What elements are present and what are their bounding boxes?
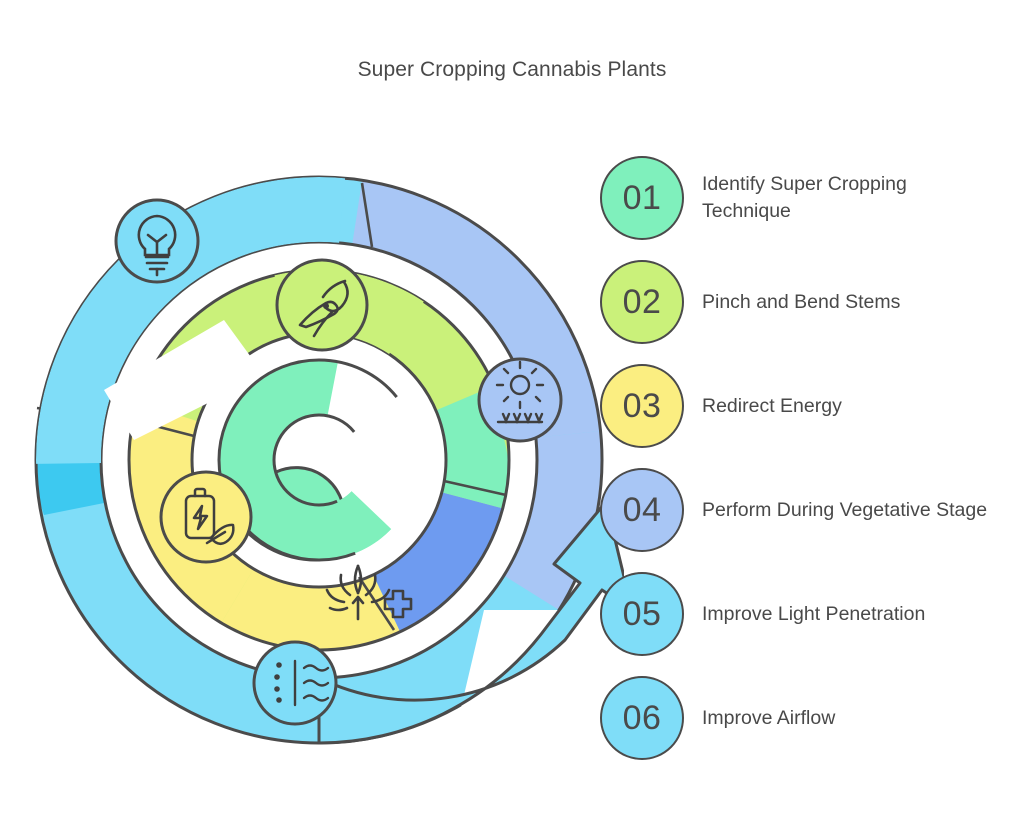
page-title: Super Cropping Cannabis Plants bbox=[0, 58, 1024, 82]
node-lightbulb bbox=[116, 200, 198, 282]
legend-number-02: 02 bbox=[623, 285, 662, 319]
legend-label-05: Improve Light Penetration bbox=[702, 601, 925, 628]
legend-item-04[interactable]: 04 Perform During Vegetative Stage bbox=[600, 458, 1010, 562]
legend-number-01: 01 bbox=[623, 181, 662, 215]
legend-label-04: Perform During Vegetative Stage bbox=[702, 497, 987, 524]
legend-number-05: 05 bbox=[623, 597, 662, 631]
node-battery-leaf bbox=[161, 472, 251, 562]
legend-badge-03: 03 bbox=[600, 364, 684, 448]
legend-item-03[interactable]: 03 Redirect Energy bbox=[600, 354, 1010, 458]
legend-item-02[interactable]: 02 Pinch and Bend Stems bbox=[600, 250, 1010, 354]
legend-label-01: Identify Super Cropping Technique bbox=[702, 171, 992, 224]
legend-number-03: 03 bbox=[623, 389, 662, 423]
legend-number-06: 06 bbox=[623, 701, 662, 735]
legend-number-04: 04 bbox=[623, 493, 662, 527]
node-airflow bbox=[254, 642, 336, 724]
legend-label-02: Pinch and Bend Stems bbox=[702, 289, 900, 316]
legend-label-06: Improve Airflow bbox=[702, 705, 835, 732]
spiral-process-diagram bbox=[14, 140, 624, 780]
legend-badge-01: 01 bbox=[600, 156, 684, 240]
legend-item-01[interactable]: 01 Identify Super Cropping Technique bbox=[600, 146, 1010, 250]
legend-item-06[interactable]: 06 Improve Airflow bbox=[600, 666, 1010, 770]
legend-label-03: Redirect Energy bbox=[702, 393, 842, 420]
legend-badge-02: 02 bbox=[600, 260, 684, 344]
legend-item-05[interactable]: 05 Improve Light Penetration bbox=[600, 562, 1010, 666]
legend-list: 01 Identify Super Cropping Technique 02 … bbox=[600, 146, 1010, 770]
legend-badge-06: 06 bbox=[600, 676, 684, 760]
node-sun-over-plants bbox=[479, 359, 561, 441]
node-pruning-shears bbox=[277, 260, 367, 350]
legend-badge-05: 05 bbox=[600, 572, 684, 656]
legend-badge-04: 04 bbox=[600, 468, 684, 552]
